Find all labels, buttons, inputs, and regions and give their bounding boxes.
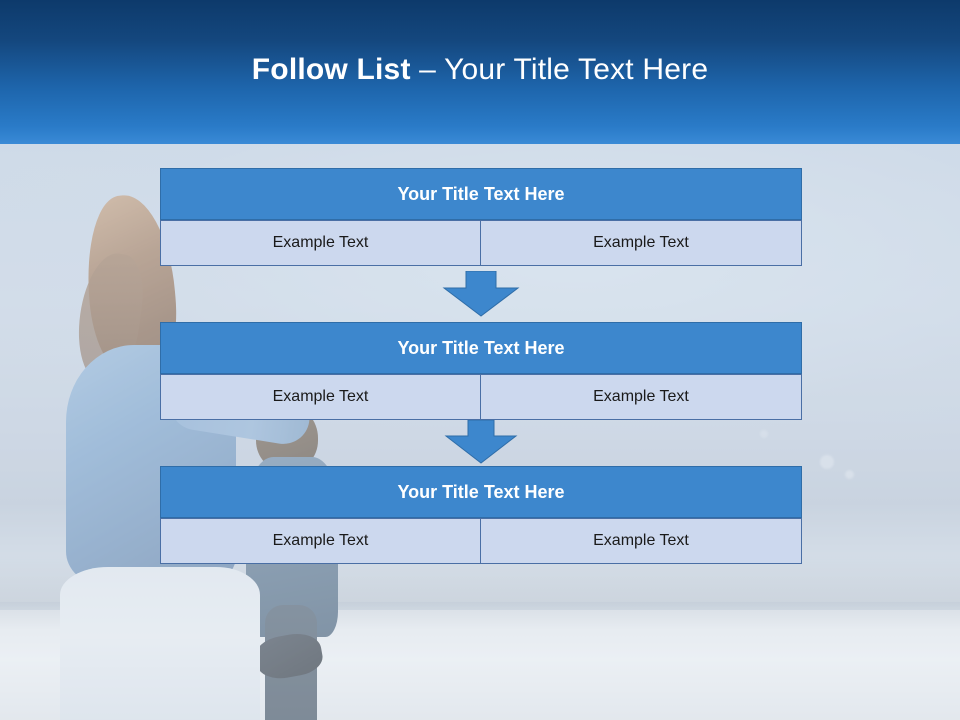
down-arrow-icon bbox=[442, 420, 520, 466]
page-title: Follow List – Your Title Text Here bbox=[0, 52, 960, 88]
page-title-light: Your Title Text Here bbox=[444, 53, 708, 86]
flow-block-1-title: Your Title Text Here bbox=[160, 168, 802, 220]
flow-block-3-cell-left: Example Text bbox=[160, 518, 481, 564]
flow-block-1: Your Title Text Here Example Text Exampl… bbox=[160, 168, 802, 266]
flow-block-3-cell-right: Example Text bbox=[481, 518, 802, 564]
page-title-strong: Follow List bbox=[252, 53, 411, 86]
flow-connector-2 bbox=[160, 420, 802, 466]
flow-block-2: Your Title Text Here Example Text Exampl… bbox=[160, 322, 802, 420]
flow-block-1-cell-left: Example Text bbox=[160, 220, 481, 266]
flow-block-2-cell-right: Example Text bbox=[481, 374, 802, 420]
flow-block-3-title: Your Title Text Here bbox=[160, 466, 802, 518]
flow-block-3: Your Title Text Here Example Text Exampl… bbox=[160, 466, 802, 564]
flow-connector-1 bbox=[160, 266, 802, 322]
down-arrow-icon bbox=[442, 271, 520, 317]
flow-block-2-title: Your Title Text Here bbox=[160, 322, 802, 374]
slide-header: Follow List – Your Title Text Here bbox=[0, 0, 960, 144]
flow-block-1-row: Example Text Example Text bbox=[160, 220, 802, 266]
flow-block-2-cell-left: Example Text bbox=[160, 374, 481, 420]
flow-block-1-cell-right: Example Text bbox=[481, 220, 802, 266]
flow-block-3-row: Example Text Example Text bbox=[160, 518, 802, 564]
flow-block-2-row: Example Text Example Text bbox=[160, 374, 802, 420]
slide: Follow List – Your Title Text Here Your … bbox=[0, 0, 960, 720]
follow-list-flow: Your Title Text Here Example Text Exampl… bbox=[160, 168, 802, 564]
page-title-separator: – bbox=[411, 53, 444, 86]
